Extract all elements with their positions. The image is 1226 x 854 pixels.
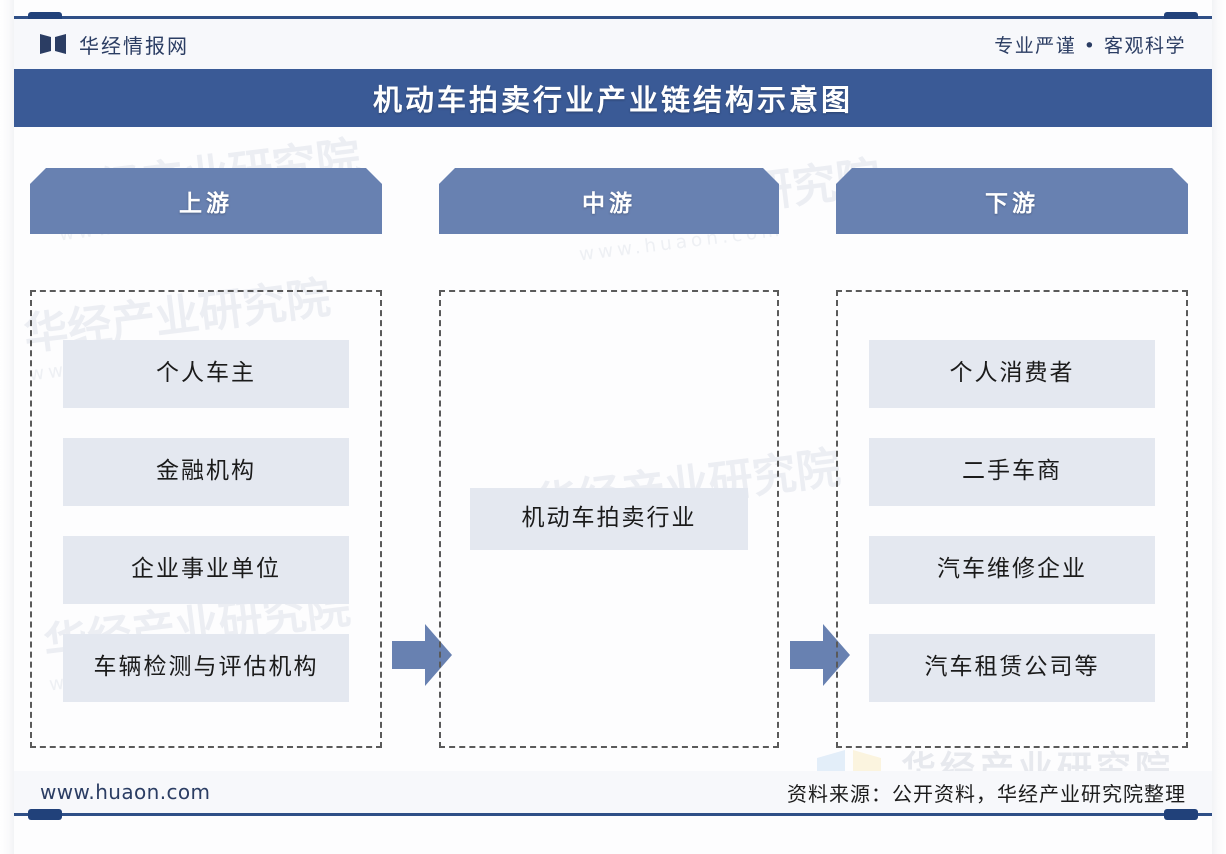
- huajing-flag-logo-icon: [40, 32, 66, 56]
- column-header-upstream[interactable]: 上游: [30, 168, 382, 234]
- bottom-divider-cap-left: [28, 809, 62, 820]
- brand-name: 华经情报网: [79, 30, 189, 59]
- chain-item[interactable]: 机动车拍卖行业: [470, 488, 748, 550]
- chain-item-label: 机动车拍卖行业: [522, 504, 697, 533]
- chain-item[interactable]: 企业事业单位: [63, 536, 349, 604]
- chain-item-label: 个人消费者: [950, 359, 1075, 388]
- column-header-midstream[interactable]: 中游: [439, 168, 779, 234]
- page-footer: www.huaon.com 资料来源：公开资料，华经产业研究院整理: [14, 771, 1212, 813]
- chain-item-label: 汽车维修企业: [937, 555, 1087, 584]
- column-body-downstream: 个人消费者 二手车商 汽车维修企业 汽车租赁公司等: [836, 290, 1188, 748]
- page-header: 华经情报网 专业严谨 • 客观科学: [14, 19, 1212, 69]
- bottom-divider-cap-right: [1164, 809, 1198, 820]
- column-header-label: 中游: [582, 184, 636, 218]
- chain-item[interactable]: 汽车租赁公司等: [869, 634, 1155, 702]
- column-upstream: 上游 个人车主 金融机构 企业事业单位 车辆检测与评估机构: [30, 130, 382, 770]
- bottom-divider: [14, 813, 1212, 816]
- page-title: 机动车拍卖行业产业链结构示意图: [373, 77, 853, 119]
- industry-chain-diagram: 上游 个人车主 金融机构 企业事业单位 车辆检测与评估机构: [14, 130, 1212, 770]
- chain-item[interactable]: 二手车商: [869, 438, 1155, 506]
- column-midstream: 中游 机动车拍卖行业: [439, 130, 779, 770]
- chain-item-label: 二手车商: [962, 457, 1062, 486]
- chain-item-label: 车辆检测与评估机构: [94, 653, 319, 682]
- footer-source: 资料来源：公开资料，华经产业研究院整理: [787, 778, 1186, 807]
- chain-item[interactable]: 金融机构: [63, 438, 349, 506]
- chain-item[interactable]: 个人车主: [63, 340, 349, 408]
- chain-item-label: 金融机构: [156, 457, 256, 486]
- column-body-upstream: 个人车主 金融机构 企业事业单位 车辆检测与评估机构: [30, 290, 382, 748]
- column-header-downstream[interactable]: 下游: [836, 168, 1188, 234]
- header-slogan: 专业严谨 • 客观科学: [994, 31, 1186, 58]
- brand: 华经情报网: [40, 30, 189, 59]
- footer-url[interactable]: www.huaon.com: [40, 780, 210, 804]
- chart-title-bar: 机动车拍卖行业产业链结构示意图: [14, 69, 1212, 127]
- column-body-midstream: 机动车拍卖行业: [439, 290, 779, 748]
- chain-item[interactable]: 个人消费者: [869, 340, 1155, 408]
- column-header-label: 下游: [985, 184, 1039, 218]
- page-canvas: 华经情报网 专业严谨 • 客观科学 机动车拍卖行业产业链结构示意图 华经产业研究…: [0, 0, 1226, 854]
- chain-item-label: 汽车租赁公司等: [925, 653, 1100, 682]
- chain-item[interactable]: 汽车维修企业: [869, 536, 1155, 604]
- chain-item-label: 企业事业单位: [131, 555, 281, 584]
- chain-item-label: 个人车主: [156, 359, 256, 388]
- column-downstream: 下游 个人消费者 二手车商 汽车维修企业 汽车租赁公司等: [836, 130, 1188, 770]
- chain-item[interactable]: 车辆检测与评估机构: [63, 634, 349, 702]
- column-header-label: 上游: [179, 184, 233, 218]
